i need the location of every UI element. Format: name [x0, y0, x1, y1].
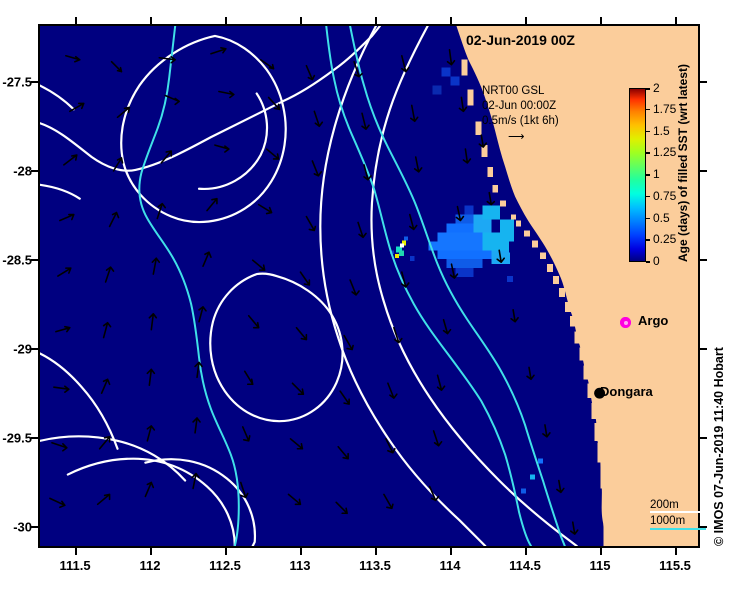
argo-label: Argo [638, 313, 668, 328]
copyright-notice: © IMOS 07-Jun-2019 11:40 Hobart [712, 296, 726, 546]
depth-legend-1000m: 1000m [650, 514, 685, 528]
page-title: 02-Jun-2019 00Z [466, 32, 575, 48]
x-tick-label-1: 112 [140, 558, 161, 573]
depth-legend-200m: 200m [650, 498, 685, 512]
depth-contour-legend: 200m 1000m [650, 498, 685, 528]
y-tick-label-5: -30 [0, 520, 32, 535]
current-datetime: 02-Jun 00:00Z [482, 99, 559, 114]
x-tick-label-7: 115 [590, 558, 611, 573]
y-tick-label-0: -27.5 [0, 75, 32, 90]
colorbar: 0 0.25 0.5 0.75 1 1.25 1.5 1.75 2 [629, 88, 646, 262]
x-tick-label-0: 111.5 [59, 558, 90, 573]
current-annotation: NRT00 GSL 02-Jun 00:00Z 0.5m/s (1kt 6h) … [482, 84, 559, 145]
colorbar-tick-7: 1.75 [653, 102, 676, 116]
x-tick-label-4: 113.5 [359, 558, 391, 573]
map-graphics [40, 26, 698, 546]
current-source: NRT00 GSL [482, 84, 559, 99]
y-tick-label-1: -28 [0, 164, 32, 179]
colorbar-axis-label: Age (days) of filled SST (wrt latest) [676, 88, 690, 262]
figure-root: 02-Jun-2019 00Z NRT00 GSL 02-Jun 00:00Z … [0, 0, 739, 592]
x-tick-label-6: 114.5 [509, 558, 541, 573]
map-plot-area[interactable] [38, 24, 700, 548]
y-tick-label-4: -29.5 [0, 431, 32, 446]
depth-legend-200m-line [650, 511, 706, 513]
colorbar-tick-1: 0.25 [653, 232, 676, 246]
argo-marker-icon [620, 317, 631, 328]
colorbar-tick-0: 0 [653, 254, 660, 268]
colorbar-tick-6: 1.5 [653, 124, 670, 138]
colorbar-tick-5: 1.25 [653, 145, 676, 159]
current-scale-arrow-icon: ⟶ [508, 130, 559, 145]
y-tick-label-2: -28.5 [0, 253, 32, 268]
x-tick-label-3: 113 [290, 558, 311, 573]
map-canvas [40, 26, 698, 546]
colorbar-tick-3: 0.75 [653, 189, 676, 203]
current-scale: 0.5m/s (1kt 6h) [482, 114, 559, 129]
colorbar-gradient [629, 88, 646, 262]
x-tick-label-5: 114 [440, 558, 461, 573]
depth-legend-200m-label: 200m [650, 499, 679, 511]
colorbar-tick-2: 0.5 [653, 211, 670, 225]
dongara-label: Dongara [600, 384, 653, 399]
x-tick-label-2: 112.5 [209, 558, 241, 573]
depth-legend-1000m-label: 1000m [650, 515, 685, 527]
x-tick-label-8: 115.5 [659, 558, 691, 573]
colorbar-tick-4: 1 [653, 167, 660, 181]
depth-legend-1000m-line [650, 528, 706, 530]
colorbar-tick-8: 2 [653, 81, 660, 95]
y-tick-label-3: -29 [0, 342, 32, 357]
